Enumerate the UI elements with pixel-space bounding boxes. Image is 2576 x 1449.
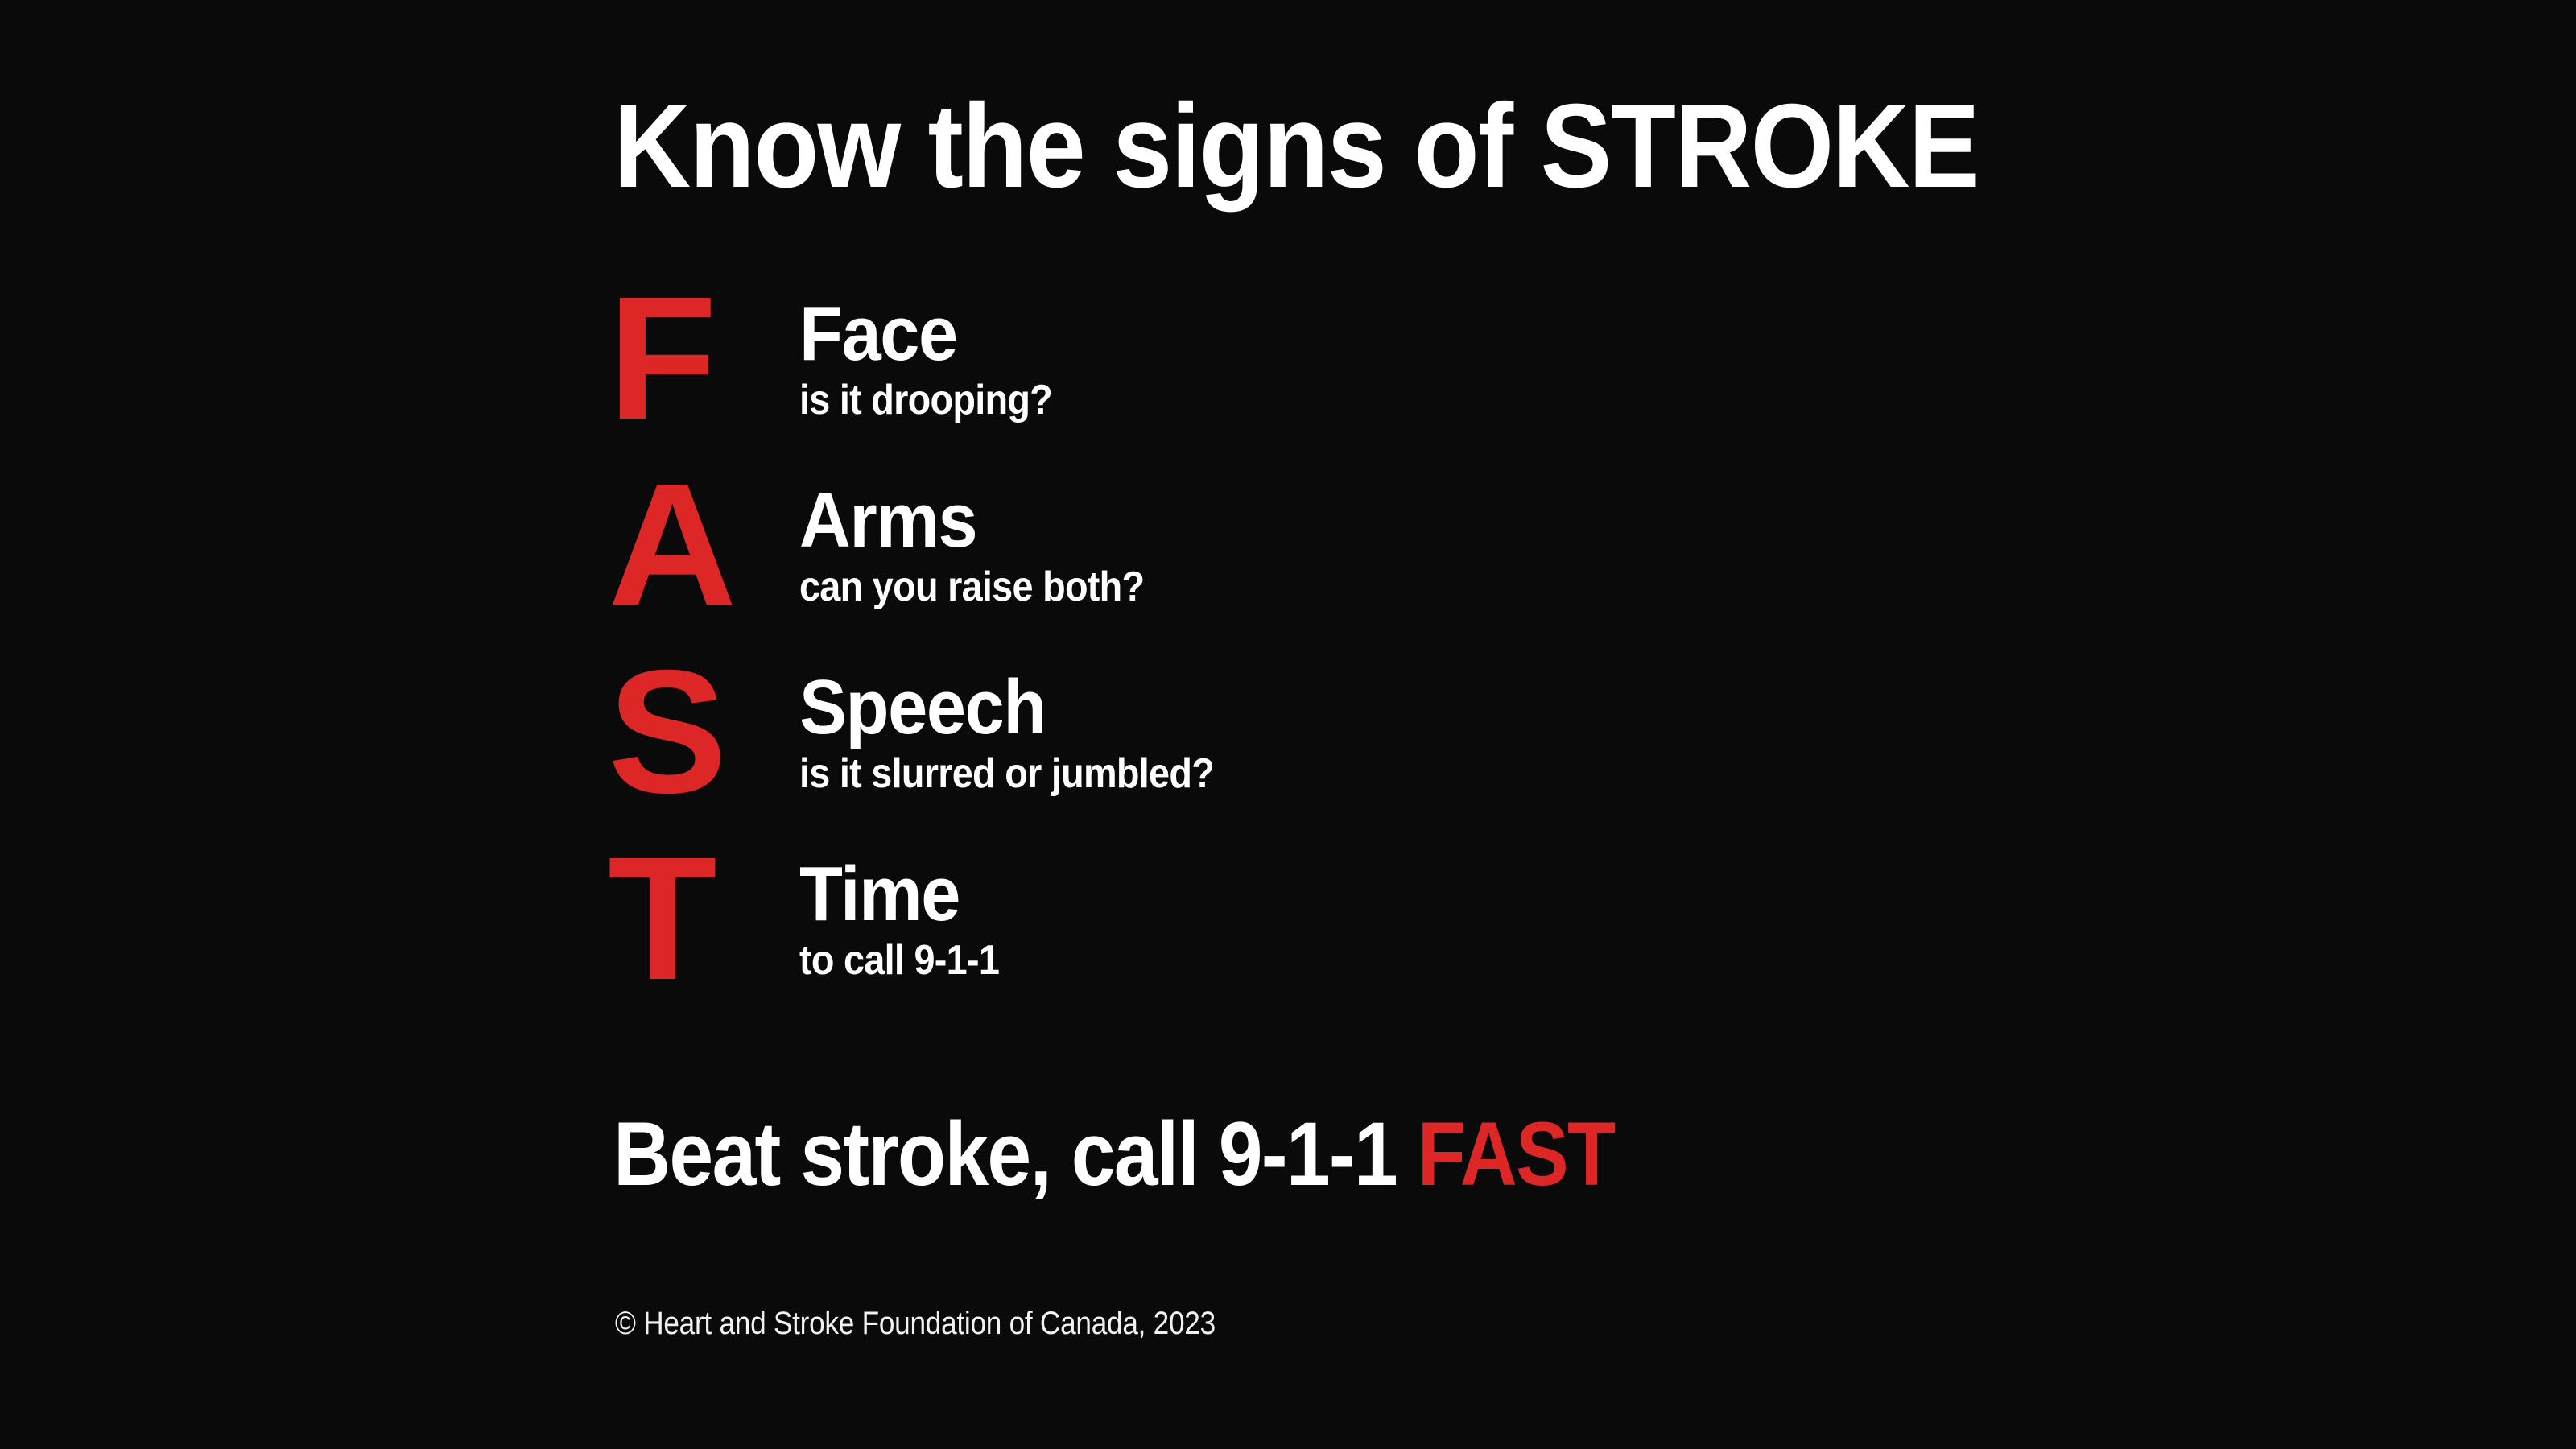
list-item: F Face is it drooping?: [0, 296, 2576, 483]
acronym-copy-a: Arms can you raise both?: [799, 483, 1183, 609]
acronym-copy-s: Speech is it slurred or jumbled?: [799, 670, 1260, 796]
acronym-copy-f: Face is it drooping?: [799, 296, 1080, 423]
acronym-question-time: to call 9-1-1: [799, 939, 999, 983]
acronym-letter-f: F: [608, 296, 797, 423]
acronym-letter-t: T: [608, 857, 797, 983]
fast-acronym-list: F Face is it drooping? A Arms can you ra…: [0, 296, 2576, 1043]
acronym-letter-a: A: [608, 483, 797, 609]
copyright-credit: © Heart and Stroke Foundation of Canada,…: [615, 1307, 1216, 1340]
acronym-question-arms: can you raise both?: [799, 565, 1144, 609]
acronym-word-arms: Arms: [799, 483, 1152, 559]
acronym-word-face: Face: [799, 296, 1058, 372]
acronym-letter-s: S: [608, 670, 797, 796]
acronym-word-time: Time: [799, 857, 1004, 932]
list-item: A Arms can you raise both?: [0, 483, 2576, 670]
acronym-question-speech: is it slurred or jumbled?: [799, 752, 1214, 796]
acronym-word-speech: Speech: [799, 670, 1224, 745]
page-title: Know the signs of STROKE: [613, 87, 1979, 206]
stroke-awareness-poster: Know the signs of STROKE F Face is it dr…: [0, 0, 2576, 1449]
list-item: S Speech is it slurred or jumbled?: [0, 670, 2576, 857]
acronym-question-face: is it drooping?: [799, 378, 1052, 423]
tagline-lead: Beat stroke, call 9-1-1: [613, 1104, 1418, 1204]
tagline-emphasis-fast: FAST: [1418, 1104, 1615, 1204]
list-item: T Time to call 9-1-1: [0, 857, 2576, 1043]
acronym-copy-t: Time to call 9-1-1: [799, 857, 1022, 983]
tagline: Beat stroke, call 9-1-1 FAST: [613, 1109, 1614, 1199]
